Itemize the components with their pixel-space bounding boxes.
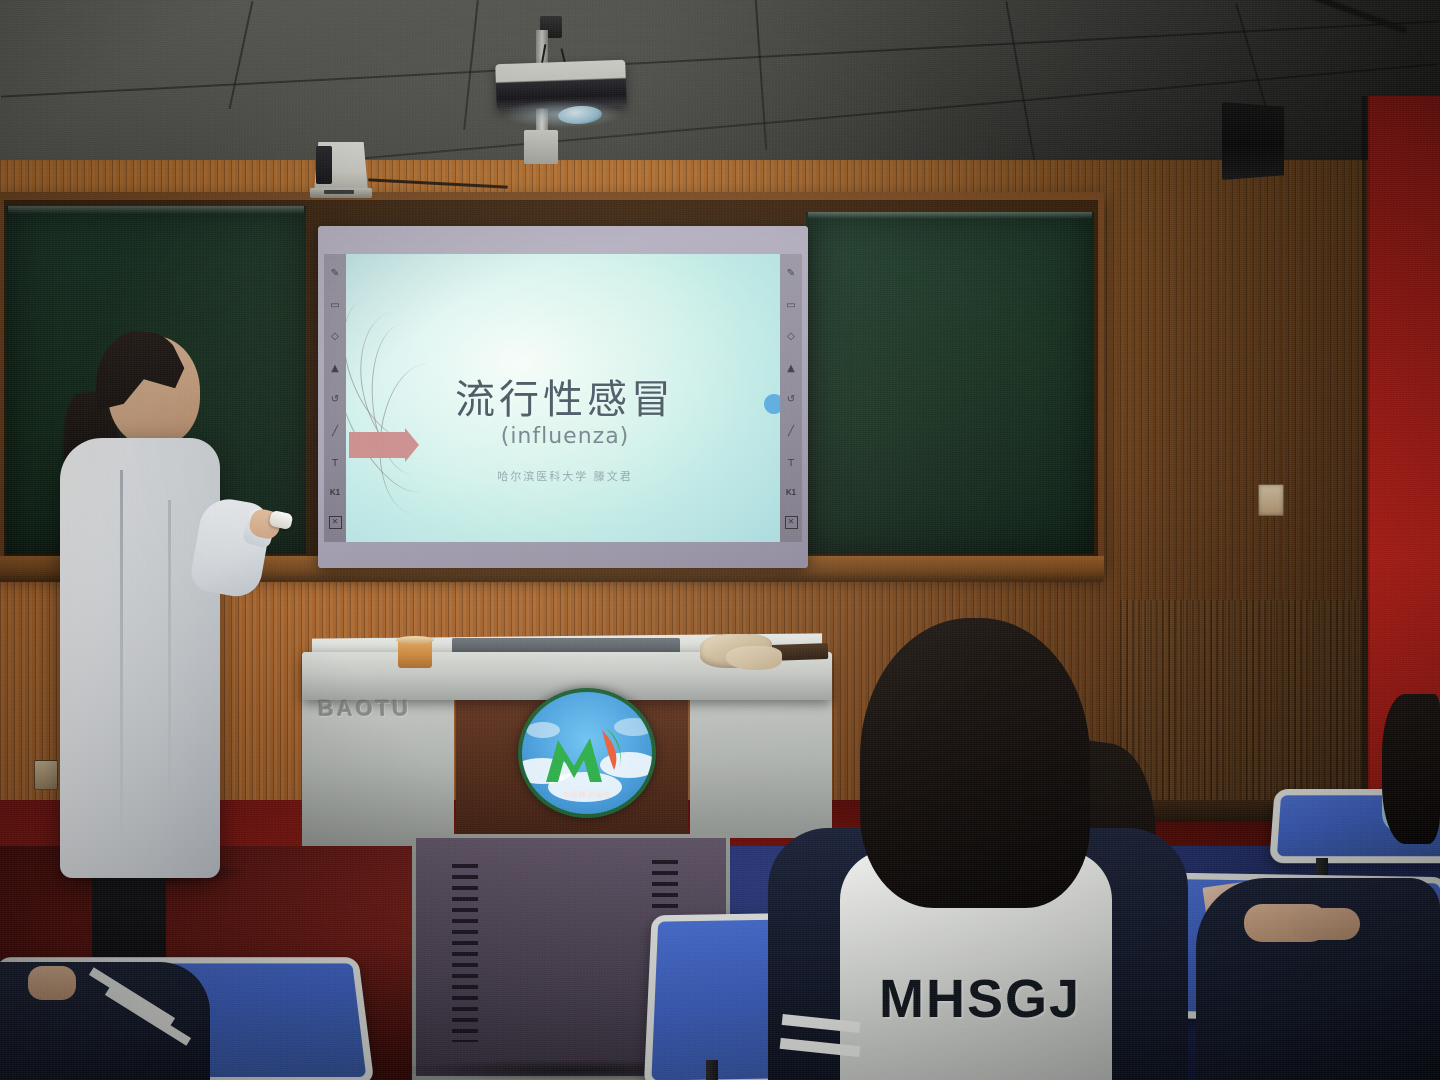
podium-brand-label: BAOTU: [318, 696, 438, 722]
instructor-lab-coat: [60, 438, 220, 878]
line-icon[interactable]: ╱: [329, 425, 342, 438]
emblem-caption: 中国移动通信: [522, 790, 652, 800]
classroom-photo: 流行性感冒 (influenza) 哈尔滨医科大学 滕文君 ✎ ▭ ◇ ▲ ↺ …: [0, 0, 1440, 1080]
undo-icon[interactable]: ↺: [785, 393, 798, 406]
blackboard-panel-right: [806, 212, 1094, 554]
camera-lens-icon: [316, 146, 332, 184]
select-icon[interactable]: ▲: [785, 362, 798, 375]
pen-icon[interactable]: ✎: [329, 267, 342, 280]
toolbar-left-label: K1: [330, 488, 340, 497]
line-icon[interactable]: ╱: [785, 425, 798, 438]
whiteboard-toolbar-right[interactable]: ✎ ▭ ◇ ▲ ↺ ╱ T K1 ✕: [780, 254, 802, 542]
shape-icon[interactable]: ◇: [785, 330, 798, 343]
chalk-dust-left: [8, 206, 304, 214]
undo-icon[interactable]: ↺: [329, 393, 342, 406]
student-jacket-text: MHSGJ: [855, 968, 1105, 1030]
shape-icon[interactable]: ◇: [329, 330, 342, 343]
slide-arrow-tip: [405, 428, 419, 462]
slide-byline: 哈尔滨医科大学 滕文君: [420, 468, 710, 484]
student-right-hair: [1382, 694, 1440, 844]
slide-arrow-shape: [349, 432, 407, 458]
close-icon[interactable]: ✕: [329, 516, 342, 529]
select-icon[interactable]: ▲: [329, 362, 342, 375]
whiteboard-toolbar-left[interactable]: ✎ ▭ ◇ ▲ ↺ ╱ T K1 ✕: [324, 254, 346, 542]
podium-emblem: 中国移动通信: [518, 688, 656, 818]
camera-vent: [324, 190, 354, 194]
student-left-hand: [28, 966, 76, 1000]
close-icon[interactable]: ✕: [785, 516, 798, 529]
power-outlet-left[interactable]: [34, 760, 58, 790]
eraser-icon[interactable]: ▭: [785, 299, 798, 312]
desk-leg: [706, 1060, 718, 1080]
cloth-fold: [726, 646, 782, 670]
pen-icon[interactable]: ✎: [785, 267, 798, 280]
slide-subtitle: (influenza): [430, 424, 700, 449]
text-icon[interactable]: T: [785, 457, 798, 470]
cup-rim: [396, 636, 434, 644]
coat-fold: [120, 470, 123, 850]
slide-title: 流行性感冒: [430, 377, 700, 423]
student-center-hair: [860, 618, 1090, 908]
chalk-dust-right: [808, 212, 1092, 219]
text-icon[interactable]: T: [329, 457, 342, 470]
red-panel-edge: [1362, 96, 1370, 866]
coat-fold-secondary: [168, 500, 171, 820]
student-right-hand-secondary: [1290, 908, 1360, 940]
projector-mount-plate: [524, 130, 558, 164]
power-outlet[interactable]: [1258, 484, 1284, 516]
emblem-m-logo: [540, 726, 634, 786]
toolbar-right-label: K1: [786, 488, 796, 497]
eraser-icon[interactable]: ▭: [329, 299, 342, 312]
wall-speaker: [1222, 102, 1284, 180]
